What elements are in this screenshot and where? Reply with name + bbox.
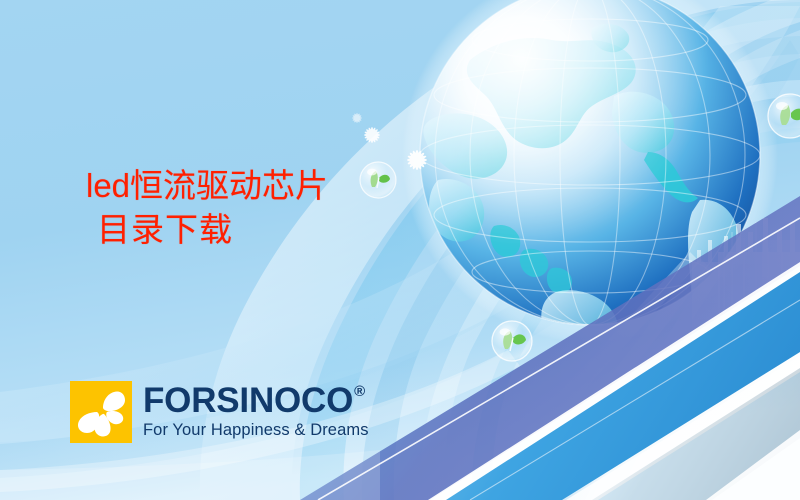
page-title: led恒流驱动芯片 目录下载 (86, 164, 328, 251)
wordmark-text: FORSINOCO (143, 383, 353, 418)
bubble-with-green-leaf (492, 321, 532, 361)
brand-wordmark: FORSINOCO ® (143, 383, 369, 418)
promo-banner: led恒流驱动芯片 目录下载 FORSINOCO ® (0, 0, 800, 500)
bubble-with-green-leaf (360, 162, 396, 198)
logo-text-block: FORSINOCO ® For Your Happiness & Dreams (143, 383, 369, 441)
sparkle-asterisk (407, 150, 427, 170)
registered-trademark-icon: ® (354, 384, 365, 399)
four-petal-pinwheel-icon (70, 381, 132, 443)
sparkle-asterisk (364, 127, 380, 143)
headline-latin: led (86, 167, 130, 204)
headline-cjk: 恒流驱动芯片 (130, 166, 328, 205)
headline-line-1: led恒流驱动芯片 (86, 164, 328, 208)
headline-line-2: 目录下载 (97, 208, 328, 252)
brand-logo: FORSINOCO ® For Your Happiness & Dreams (70, 381, 369, 443)
brand-tagline: For Your Happiness & Dreams (143, 421, 369, 441)
